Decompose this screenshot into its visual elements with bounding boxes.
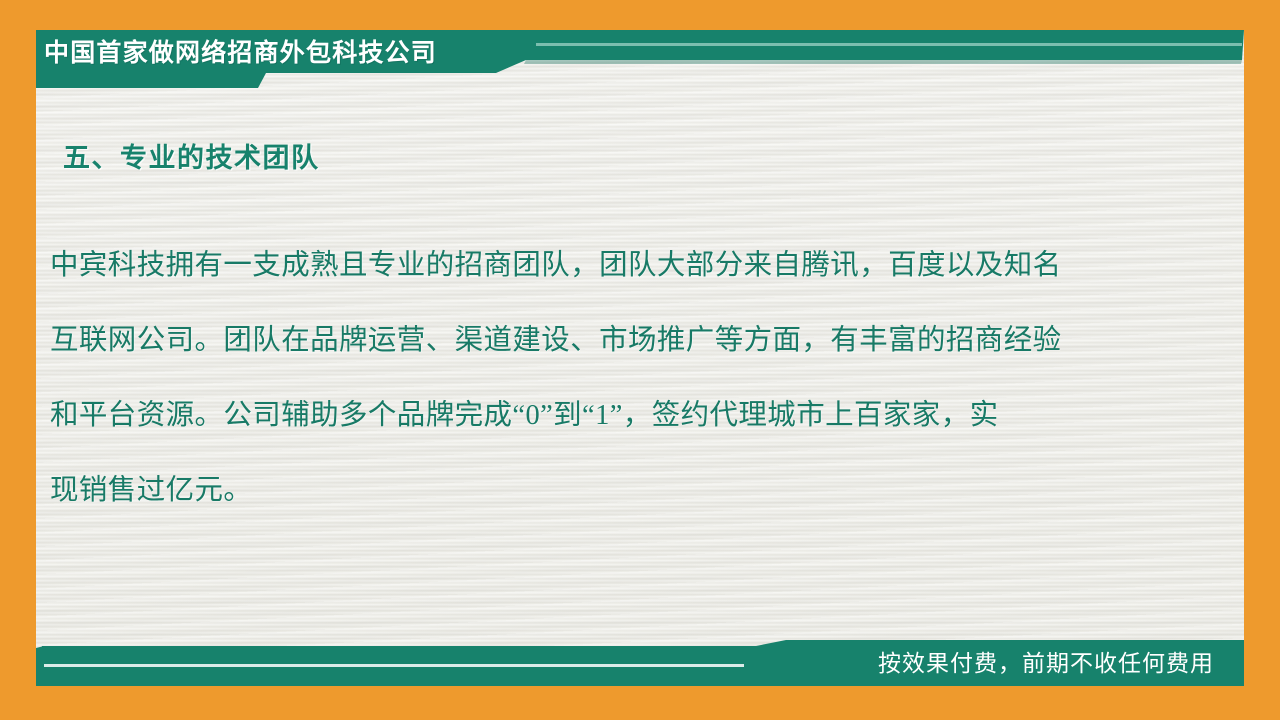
header-title: 中国首家做网络招商外包科技公司 (44, 34, 437, 72)
frame-top-edge (0, 0, 1280, 30)
body-paragraph: 中宾科技拥有一支成熟且专业的招商团队，团队大部分来自腾讯，百度以及知名 互联网公… (50, 228, 1182, 528)
footer-tagline: 按效果付费，前期不收任何费用 (878, 646, 1214, 680)
slide-root: 中国首家做网络招商外包科技公司 五、专业的技术团队 中宾科技拥有一支成熟且专业的… (0, 0, 1280, 720)
page-title: 五、专业的技术团队 (63, 136, 320, 175)
paragraph-line: 和平台资源。公司辅助多个品牌完成“0”到“1”，签约代理城市上百家家，实 (50, 378, 1182, 453)
frame-right-edge (1244, 0, 1280, 720)
frame-bottom-edge (0, 686, 1280, 720)
frame-left-edge (0, 0, 36, 720)
paragraph-line: 现销售过亿元。 (50, 453, 1182, 528)
paragraph-line: 互联网公司。团队在品牌运营、渠道建设、市场推广等方面，有丰富的招商经验 (50, 303, 1182, 378)
paragraph-line: 中宾科技拥有一支成熟且专业的招商团队，团队大部分来自腾讯，百度以及知名 (50, 228, 1182, 303)
